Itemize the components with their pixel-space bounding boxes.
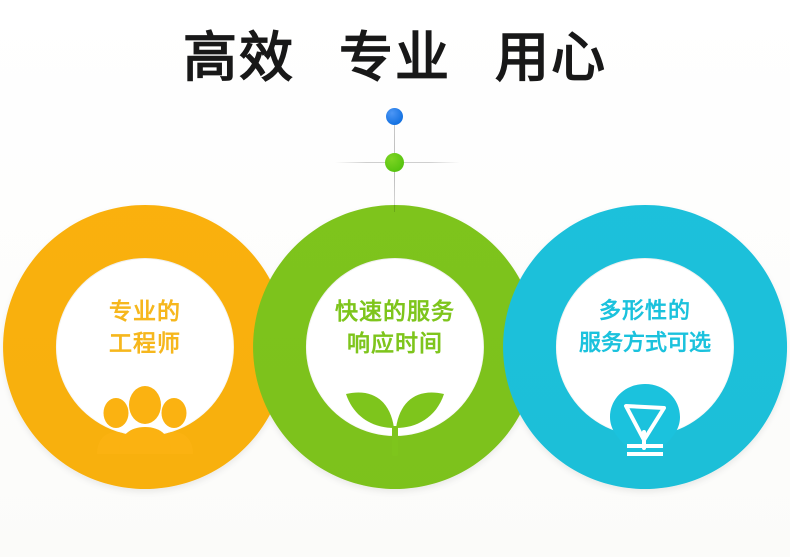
ring-right-inner-disc bbox=[557, 259, 733, 435]
venn-rings-group bbox=[0, 0, 790, 557]
venn-rings-svg bbox=[0, 0, 790, 557]
ring-left-inner-disc bbox=[57, 259, 233, 435]
infographic-canvas: 高效专业用心 bbox=[0, 0, 790, 557]
ring-middle-inner-disc bbox=[307, 259, 483, 435]
